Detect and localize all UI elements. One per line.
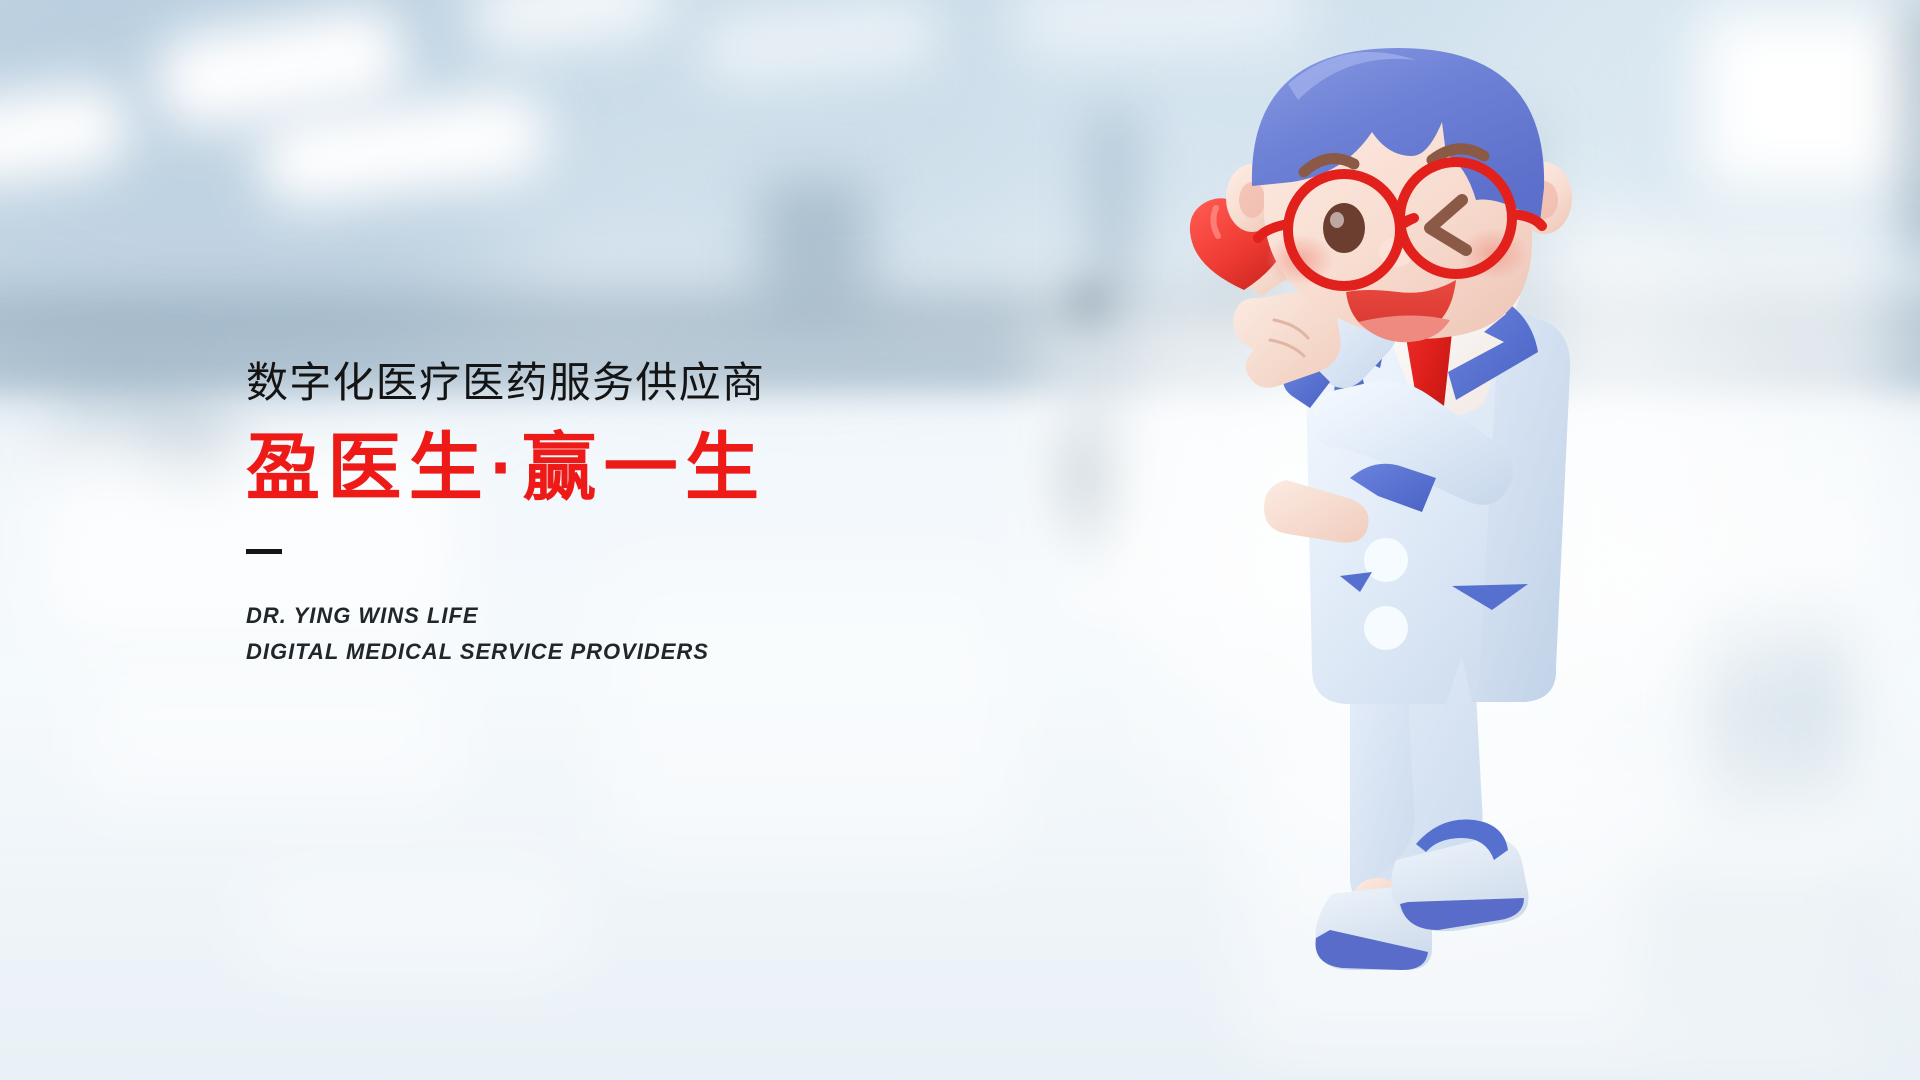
coat-button bbox=[1364, 538, 1408, 582]
mascot-eye-open bbox=[1323, 203, 1365, 253]
hero-banner: 数字化医疗医药服务供应商 盈医生·赢一生 DR. YING WINS LIFE … bbox=[0, 0, 1920, 1080]
hero-headline: 盈医生·赢一生 bbox=[246, 431, 1006, 505]
hero-english-line-2: DIGITAL MEDICAL SERVICE PROVIDERS bbox=[246, 634, 1006, 670]
hero-subtitle: 数字化医疗医药服务供应商 bbox=[246, 362, 1006, 404]
doctor-mascot bbox=[1200, 48, 1620, 1038]
hero-copy: 数字化医疗医药服务供应商 盈医生·赢一生 DR. YING WINS LIFE … bbox=[246, 362, 1006, 669]
coat-button bbox=[1364, 606, 1408, 650]
divider-rule bbox=[246, 549, 282, 554]
hero-english-block: DR. YING WINS LIFE DIGITAL MEDICAL SERVI… bbox=[246, 598, 1006, 669]
hero-english-line-1: DR. YING WINS LIFE bbox=[246, 598, 1006, 634]
